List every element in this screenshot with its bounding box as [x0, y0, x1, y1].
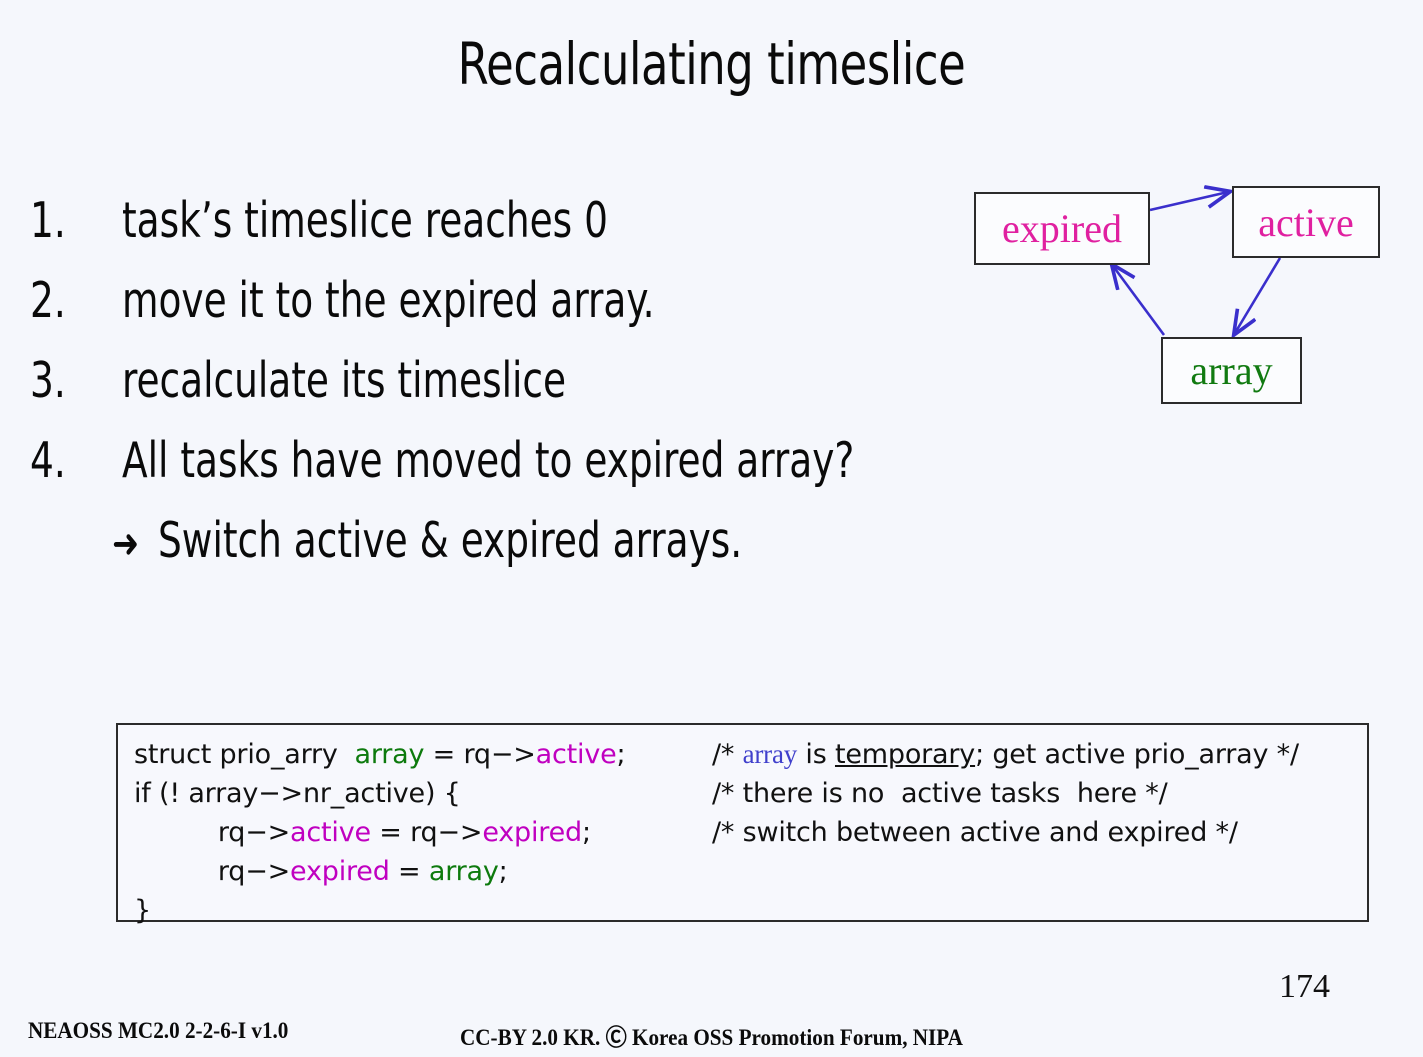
code-line: rq−>active = rq−>expired;	[134, 817, 591, 848]
list-item-number: 4.	[30, 432, 108, 489]
right-arrow-icon: ➜	[112, 521, 139, 567]
code-token-expired: expired	[290, 856, 390, 887]
code-comment: /* array is temporary; get active prio_a…	[712, 739, 1299, 770]
arrow-expired-to-active	[1150, 192, 1228, 210]
diagram-box-expired[interactable]: expired	[974, 192, 1150, 265]
list-item-label: recalculate its timeslice	[122, 352, 566, 409]
page-number: 174	[1279, 968, 1330, 1006]
code-token: = rq−>	[371, 817, 482, 848]
code-line: }	[134, 895, 151, 926]
code-token: ;	[617, 739, 626, 770]
footer-center-text: CC-BY 2.0 KR. Ⓒ Korea OSS Promotion Foru…	[460, 1018, 963, 1052]
code-token: ; get active prio_array */	[975, 739, 1299, 770]
footer-left-text: NEAOSS MC2.0 2-2-6-I v1.0	[28, 1018, 288, 1044]
list-item: 1. task’s timeslice reaches 0	[30, 192, 960, 272]
code-token-active: active	[536, 739, 617, 770]
diagram-box-expired-label: expired	[1002, 205, 1122, 252]
code-token-array: array	[429, 856, 499, 887]
code-line: rq−>expired = array;	[134, 856, 508, 887]
numbered-list: 1. task’s timeslice reaches 0 2. move it…	[30, 192, 960, 596]
code-token: /*	[712, 739, 743, 770]
sub-list-item-label: Switch active & expired arrays.	[158, 512, 742, 569]
code-comment: /* switch between active and expired */	[712, 817, 1238, 848]
code-block: struct prio_arry array = rq−>active; if …	[116, 723, 1369, 922]
code-token: ;	[582, 817, 591, 848]
list-item-label: All tasks have moved to expired array?	[122, 432, 854, 489]
code-token: struct prio_arry	[134, 739, 354, 770]
list-item: 3. recalculate its timeslice	[30, 352, 960, 432]
slide-canvas: Recalculating timeslice 1. task’s timesl…	[0, 0, 1423, 1057]
list-item-number: 2.	[30, 272, 108, 329]
state-diagram: expired active array	[950, 170, 1410, 430]
code-token: rq−>	[134, 817, 290, 848]
code-token-expired: expired	[482, 817, 582, 848]
list-item: 4. All tasks have moved to expired array…	[30, 432, 960, 512]
diagram-box-active[interactable]: active	[1232, 186, 1380, 258]
code-line: if (! array−>nr_active) {	[134, 778, 461, 809]
list-item-number: 1.	[30, 192, 108, 249]
list-item-number: 3.	[30, 352, 108, 409]
diagram-box-array[interactable]: array	[1161, 337, 1302, 404]
code-token-array: array	[354, 739, 424, 770]
code-token-active: active	[290, 817, 371, 848]
code-token: ;	[499, 856, 508, 887]
code-token-array: array	[743, 739, 797, 769]
code-comment: /* there is no active tasks here */	[712, 778, 1167, 809]
list-item-label: task’s timeslice reaches 0	[122, 192, 608, 249]
code-token: rq−>	[134, 856, 290, 887]
code-token-temporary: temporary	[835, 739, 975, 770]
arrow-array-to-expired	[1113, 266, 1164, 335]
sub-list-item: ➜ Switch active & expired arrays.	[30, 512, 960, 596]
diagram-box-active-label: active	[1258, 199, 1354, 246]
list-item: 2. move it to the expired array.	[30, 272, 960, 352]
list-item-label: move it to the expired array.	[122, 272, 654, 329]
code-token: = rq−>	[424, 739, 535, 770]
code-token: is	[797, 739, 835, 770]
diagram-box-array-label: array	[1190, 347, 1272, 394]
arrow-active-to-array	[1235, 258, 1280, 333]
code-line: struct prio_arry array = rq−>active;	[134, 739, 625, 770]
code-token: =	[390, 856, 429, 887]
page-title: Recalculating timeslice	[100, 34, 1324, 95]
